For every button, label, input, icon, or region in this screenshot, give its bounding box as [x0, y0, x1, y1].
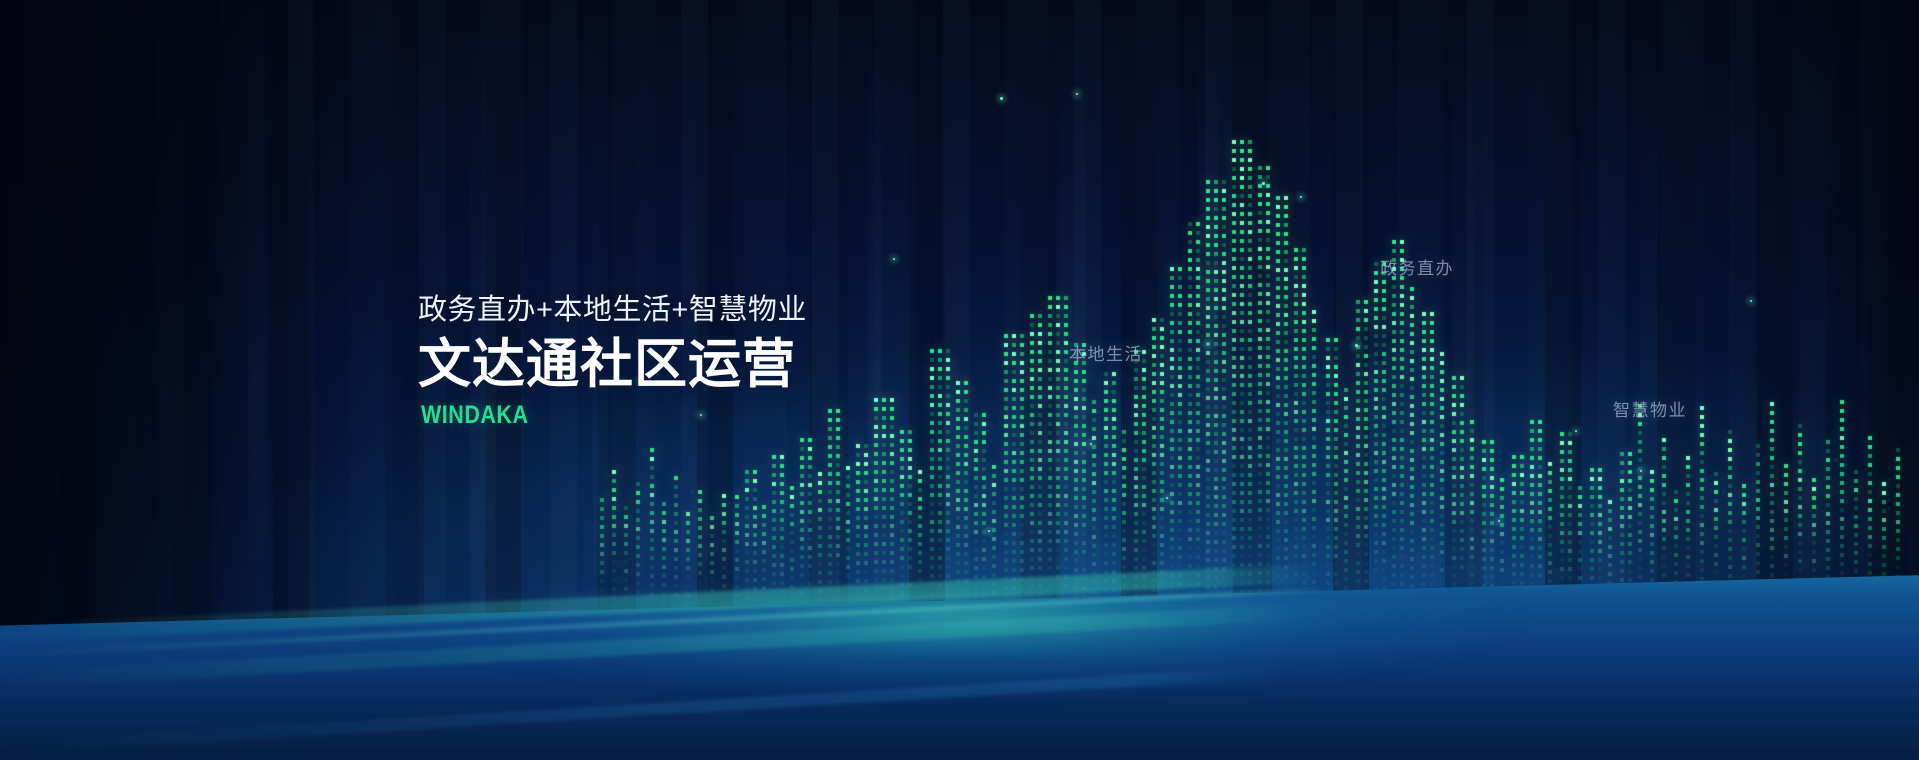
hero-banner: 政务直办本地生活智慧物业 政务直办+本地生活+智慧物业 文达通社区运营 WIND…: [0, 0, 1919, 760]
road-line: [0, 666, 1278, 754]
floating-label: 智慧物业: [1613, 396, 1687, 421]
hero-subtitle: 政务直办+本地生活+智慧物业: [418, 292, 807, 329]
floating-label: 本地生活: [1069, 340, 1143, 365]
road-line: [0, 564, 1319, 642]
hero-title: 文达通社区运营: [418, 335, 807, 394]
road-line: [0, 587, 1339, 657]
ground-road-lines: [0, 0, 1919, 760]
road-line: [0, 604, 1299, 688]
hero-copy-block: 政务直办+本地生活+智慧物业 文达通社区运营 WINDAKA: [418, 292, 807, 430]
floating-label: 政务直办: [1380, 254, 1454, 279]
brand-wordmark: WINDAKA: [421, 401, 753, 430]
